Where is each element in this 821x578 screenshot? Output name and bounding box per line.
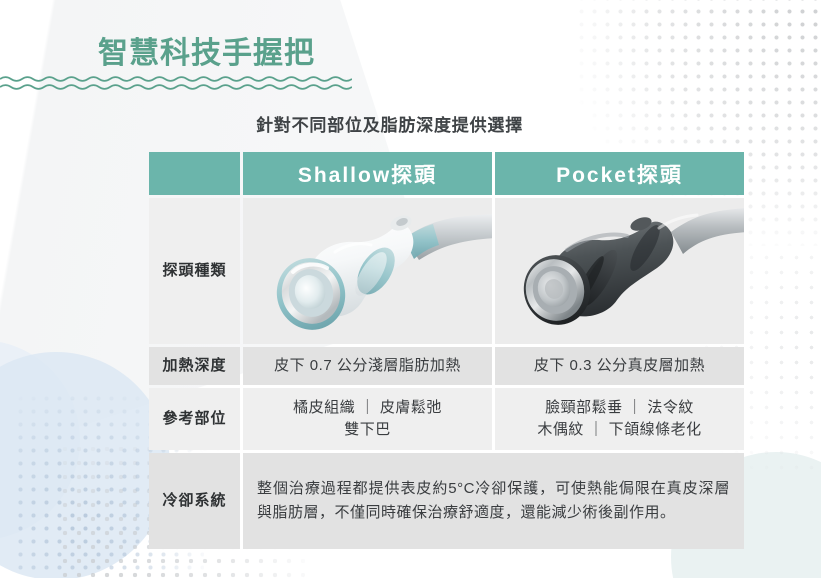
table-row-probe-type: 探頭種類	[149, 198, 744, 344]
table-body: 探頭種類	[149, 198, 744, 549]
cell-heating-depth-shallow: 皮下 0.7 公分淺層脂肪加熱	[243, 347, 492, 385]
page-subtitle: 針對不同部位及脂肪深度提供選擇	[256, 111, 523, 136]
wavy-divider-icon	[0, 74, 352, 92]
row-label-heating-depth: 加熱深度	[149, 347, 240, 385]
cell-reference-area-pocket: 臉頸部鬆垂 ｜ 法令紋 木偶紋 ｜ 下頜線條老化	[495, 388, 744, 450]
cell-line: 雙下巴	[243, 419, 492, 442]
table-row-cooling-system: 冷卻系統 整個治療過程都提供表皮約5°C冷卻保護，可使熱能侷限在真皮深層與脂肪層…	[149, 453, 744, 549]
column-header-pocket: Pocket探頭	[495, 152, 744, 195]
table-row-heating-depth: 加熱深度 皮下 0.7 公分淺層脂肪加熱 皮下 0.3 公分真皮層加熱	[149, 347, 744, 385]
pocket-probe-image	[495, 198, 744, 344]
cell-heating-depth-pocket: 皮下 0.3 公分真皮層加熱	[495, 347, 744, 385]
row-label-probe-type: 探頭種類	[149, 198, 240, 344]
header-corner-blank	[149, 152, 240, 195]
cell-line: 木偶紋 ｜ 下頜線條老化	[495, 419, 744, 442]
table-row-reference-area: 參考部位 橘皮組織 ｜ 皮膚鬆弛 雙下巴 臉頸部鬆垂 ｜ 法令紋 木偶紋 ｜ 下…	[149, 388, 744, 450]
row-label-reference-area: 參考部位	[149, 388, 240, 450]
blue-circle-front	[0, 352, 170, 578]
cell-line: 臉頸部鬆垂 ｜ 法令紋	[495, 397, 744, 420]
column-header-shallow: Shallow探頭	[243, 152, 492, 195]
row-label-cooling-system: 冷卻系統	[149, 453, 240, 549]
table-header-row: Shallow探頭 Pocket探頭	[149, 152, 744, 195]
table-header: Shallow探頭 Pocket探頭	[149, 152, 744, 195]
cell-line: 橘皮組織 ｜ 皮膚鬆弛	[243, 397, 492, 420]
poster-root: 智慧科技手握把 針對不同部位及脂肪深度提供選擇 Shallow探頭 Pocket…	[0, 0, 821, 578]
page-title: 智慧科技手握把	[98, 36, 315, 72]
shallow-probe-image	[243, 198, 492, 344]
cell-reference-area-shallow: 橘皮組織 ｜ 皮膚鬆弛 雙下巴	[243, 388, 492, 450]
cell-cooling-system-description: 整個治療過程都提供表皮約5°C冷卻保護，可使熱能侷限在真皮深層與脂肪層，不僅同時…	[243, 453, 744, 549]
blue-circle-back	[0, 340, 80, 540]
probe-comparison-table: Shallow探頭 Pocket探頭 探頭種類	[146, 149, 747, 552]
